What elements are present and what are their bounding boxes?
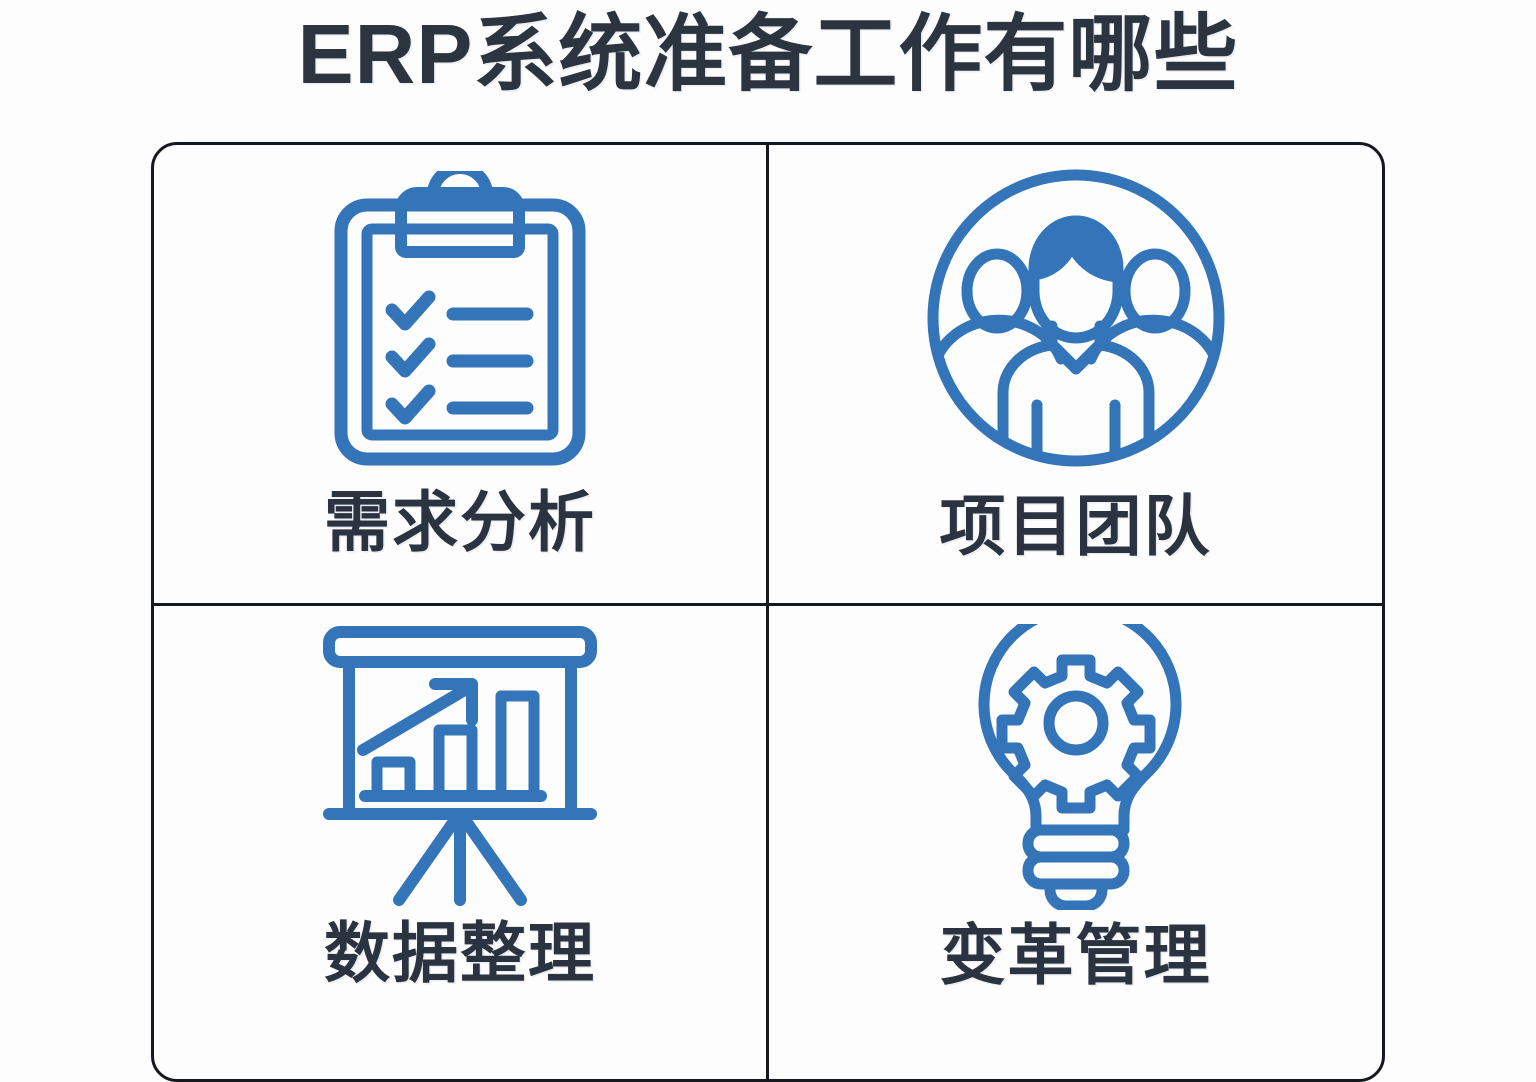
cell-change-management[interactable]: 变革管理 (769, 606, 1382, 1082)
cell-data-organization[interactable]: 数据整理 (154, 606, 766, 1082)
team-people-circle-icon (921, 163, 1231, 473)
cell-label-project-team: 项目团队 (940, 487, 1212, 565)
infographic-page: ERP系统准备工作有哪些 (0, 0, 1536, 1024)
cell-label-requirements-analysis: 需求分析 (324, 483, 596, 561)
cell-project-team[interactable]: 项目团队 (769, 145, 1382, 603)
presentation-bar-chart-icon (315, 624, 605, 908)
cell-label-data-organization: 数据整理 (324, 914, 596, 992)
page-title: ERP系统准备工作有哪些 (0, 2, 1536, 106)
clipboard-checklist-icon (329, 171, 591, 471)
cell-label-change-management: 变革管理 (940, 916, 1212, 994)
cell-requirements-analysis[interactable]: 需求分析 (154, 145, 766, 603)
lightbulb-gear-icon (962, 624, 1190, 910)
